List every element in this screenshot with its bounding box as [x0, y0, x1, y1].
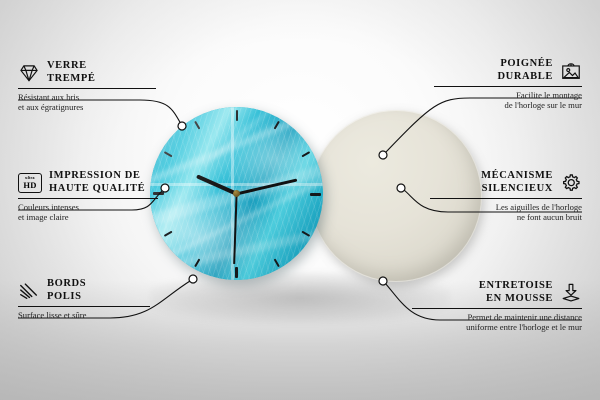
- feature-header: POIGNÉEDURABLE: [434, 58, 582, 83]
- feature-poignee-durable: POIGNÉEDURABLE Facilite le montage de l'…: [434, 58, 582, 111]
- feature-bords-polis: BORDSPOLIS Surface lisse et sûre: [18, 278, 150, 320]
- feature-divider: [412, 308, 582, 309]
- feature-mecanisme-silencieux: MÉCANISMESILENCIEUX Les aiguilles de l'h…: [430, 170, 582, 223]
- feature-divider: [430, 198, 582, 199]
- clock-glass-gloss: [150, 107, 323, 280]
- feature-title: VERRETREMPÉ: [47, 60, 96, 85]
- feature-description: Surface lisse et sûre: [18, 310, 150, 320]
- feature-description: Résistant aux bris et aux égratignures: [18, 92, 156, 113]
- feature-title: IMPRESSION DEHAUTE QUALITÉ: [49, 170, 145, 195]
- foam-spacer-icon: [560, 282, 582, 304]
- feature-description: Couleurs intenses et image claire: [18, 202, 158, 223]
- feature-title: POIGNÉEDURABLE: [497, 58, 553, 83]
- feature-impression-haute-qualite: ultra HD IMPRESSION DEHAUTE QUALITÉ Coul…: [18, 170, 158, 223]
- feature-header: ultra HD IMPRESSION DEHAUTE QUALITÉ: [18, 170, 158, 195]
- feature-title: BORDSPOLIS: [47, 278, 86, 303]
- ultra-hd-icon-main: HD: [23, 181, 36, 190]
- feature-divider: [18, 198, 158, 199]
- feature-header: ENTRETOISEEN MOUSSE: [412, 280, 582, 305]
- wall-hanger-icon: [560, 60, 582, 82]
- clock-front-face: [150, 107, 323, 280]
- feature-description: Les aiguilles de l'horloge ne font aucun…: [430, 202, 582, 223]
- feature-description: Permet de maintenir une distance uniform…: [412, 312, 582, 333]
- feature-divider: [18, 306, 150, 307]
- ultra-hd-icon: ultra HD: [18, 173, 42, 193]
- feature-divider: [18, 88, 156, 89]
- polished-edges-icon: [18, 280, 40, 302]
- feature-description: Facilite le montage de l'horloge sur le …: [434, 90, 582, 111]
- feature-entretoise-en-mousse: ENTRETOISEEN MOUSSE Permet de maintenir …: [412, 280, 582, 333]
- feature-title: ENTRETOISEEN MOUSSE: [479, 280, 553, 305]
- feature-title: MÉCANISMESILENCIEUX: [481, 170, 553, 195]
- feature-verre-trempe: VERRETREMPÉ Résistant aux bris et aux ég…: [18, 60, 156, 113]
- feature-header: VERRETREMPÉ: [18, 60, 156, 85]
- feature-header: MÉCANISMESILENCIEUX: [430, 170, 582, 195]
- gear-icon: [560, 172, 582, 194]
- feature-divider: [434, 86, 582, 87]
- infographic-canvas: VERRETREMPÉ Résistant aux bris et aux ég…: [0, 0, 600, 400]
- diamond-icon: [18, 62, 40, 84]
- feature-header: BORDSPOLIS: [18, 278, 150, 303]
